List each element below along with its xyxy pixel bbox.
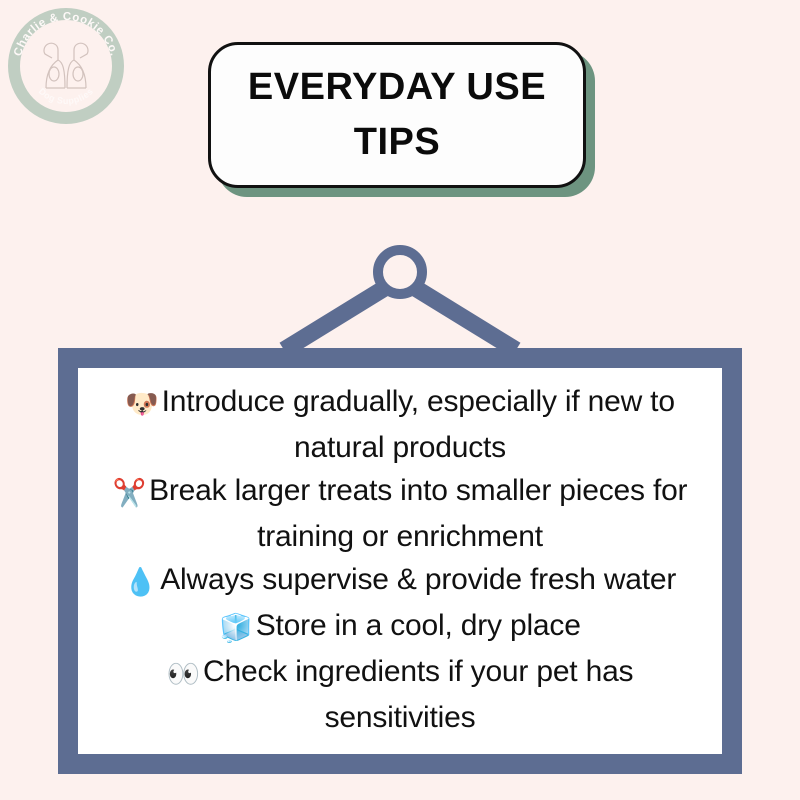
eyes-emoji: 👀: [167, 659, 200, 690]
sign-hanger: [270, 238, 530, 358]
scissors-emoji: ✂️: [113, 478, 146, 509]
brand-logo-icon: Charlie & Cookie Co. Dog Supplies: [6, 6, 126, 126]
tips-panel: 🐶Introduce gradually, especially if new …: [78, 368, 722, 754]
brand-logo-watermark: Charlie & Cookie Co. Dog Supplies: [6, 6, 126, 126]
tips-sign-board: 🐶Introduce gradually, especially if new …: [58, 348, 742, 774]
water-drop-emoji: 💧: [124, 567, 157, 598]
list-item: 🧊Store in a cool, dry place: [92, 604, 708, 650]
svg-text:Dog Supplies: Dog Supplies: [37, 86, 96, 106]
tip-text: Introduce gradually, especially if new t…: [162, 385, 675, 464]
title-card: EVERYDAY USE TIPS: [208, 42, 586, 188]
sign-hanger-icon: [270, 238, 530, 358]
ice-cube-emoji: 🧊: [219, 613, 252, 644]
list-item: 💧Always supervise & provide fresh water: [92, 558, 708, 604]
tips-list: 🐶Introduce gradually, especially if new …: [92, 380, 708, 739]
brand-name-text: Charlie & Cookie Co.: [12, 11, 120, 58]
tip-text: Store in a cool, dry place: [256, 609, 581, 642]
list-item: 👀Check ingredients if your pet has sensi…: [92, 650, 708, 739]
dog-face-emoji: 🐶: [125, 389, 158, 420]
svg-text:Charlie & Cookie Co.: Charlie & Cookie Co.: [12, 11, 120, 58]
hanger-left-arm: [284, 286, 388, 350]
tip-text: Break larger treats into smaller pieces …: [149, 474, 687, 553]
title-card-body: EVERYDAY USE TIPS: [208, 42, 586, 188]
page-title-line-1: EVERYDAY USE: [248, 60, 546, 115]
hanger-right-arm: [412, 286, 516, 350]
list-item: ✂️Break larger treats into smaller piece…: [92, 469, 708, 558]
list-item: 🐶Introduce gradually, especially if new …: [92, 380, 708, 469]
tip-text: Always supervise & provide fresh water: [160, 563, 676, 596]
hanger-ring: [378, 250, 422, 294]
tip-text: Check ingredients if your pet has sensit…: [203, 655, 633, 734]
page-title-line-2: TIPS: [354, 115, 440, 170]
brand-tagline-text: Dog Supplies: [37, 86, 96, 106]
